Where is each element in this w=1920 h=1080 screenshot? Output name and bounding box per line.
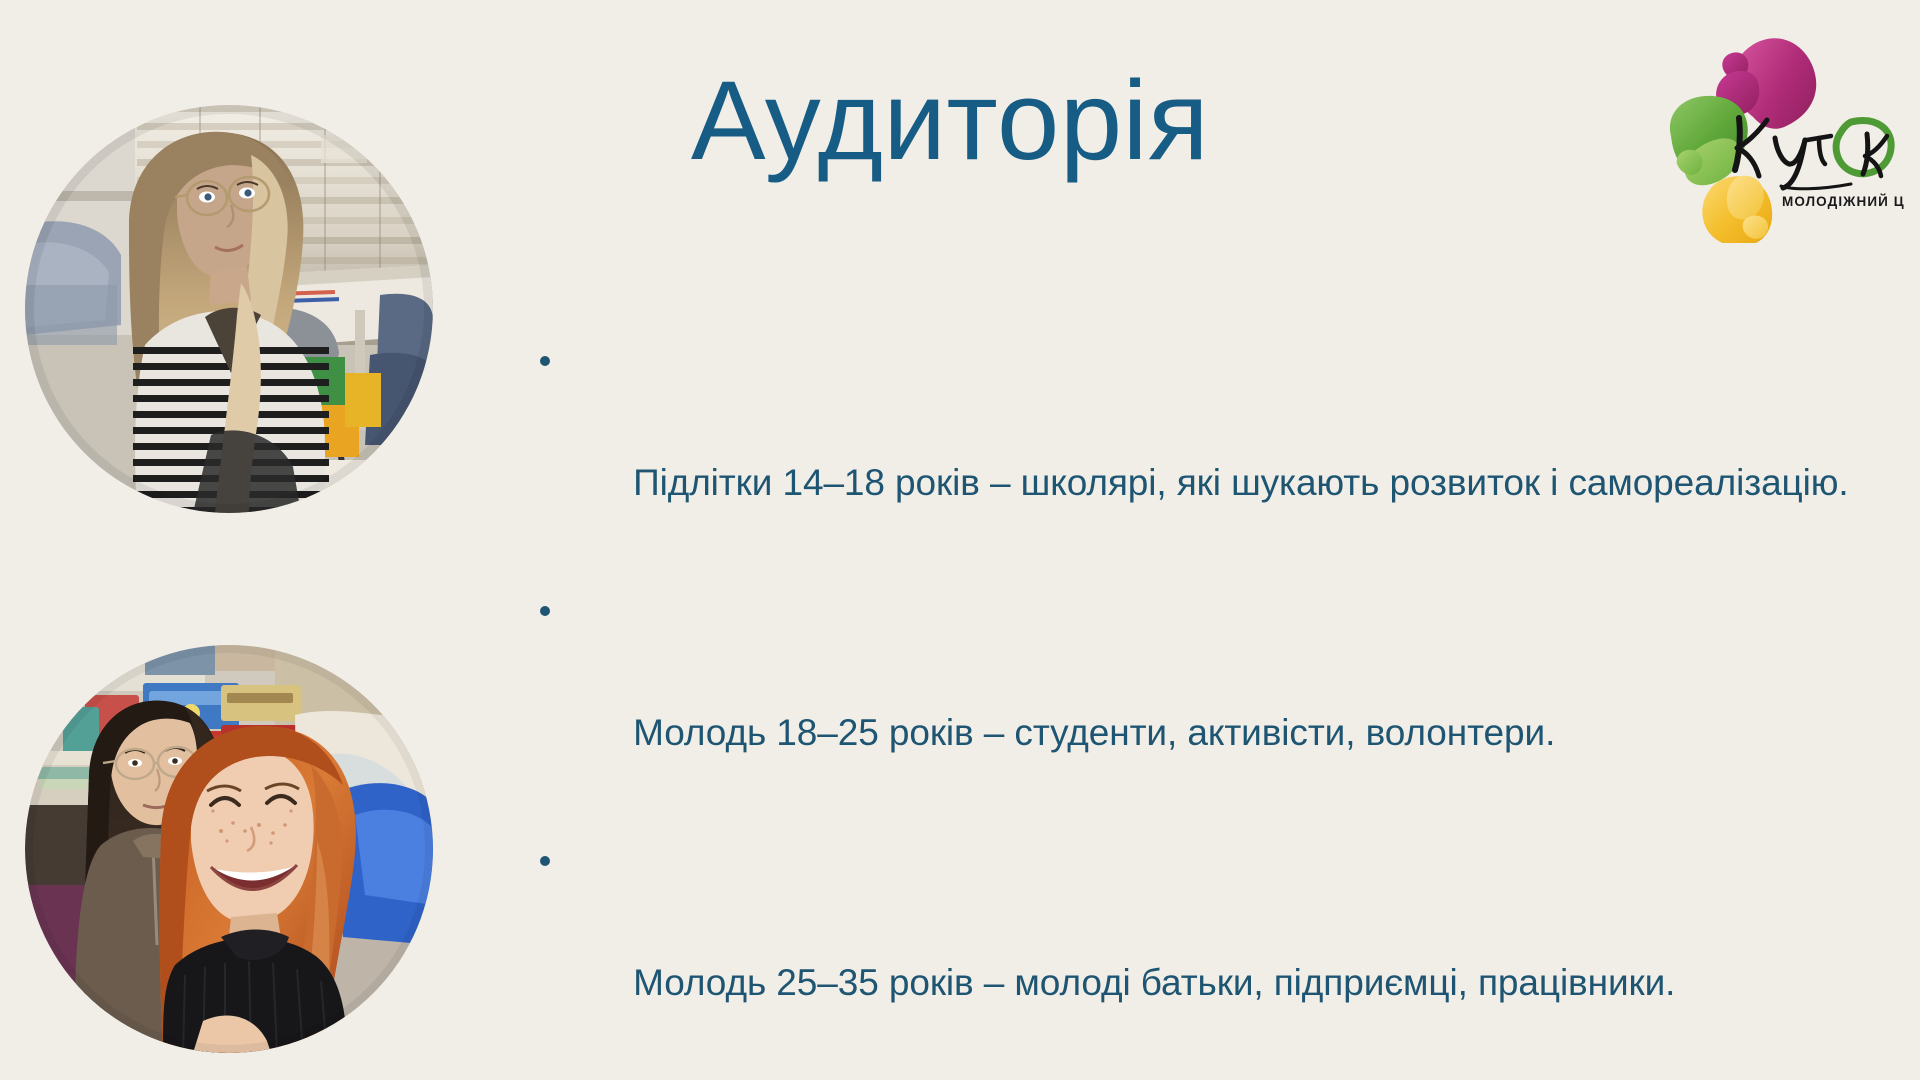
photo-two-girls-smiling: [25, 645, 433, 1053]
logo-tagline: МОЛОДІЖНИЙ ЦЕНТР: [1782, 194, 1905, 209]
logo-petal-yellow: [1702, 176, 1772, 243]
logo-wordmark: [1735, 118, 1891, 189]
list-item-text: Молодь 25–35 років – молоді батьки, підп…: [633, 962, 1675, 1003]
presentation-slide: Аудиторія: [0, 0, 1920, 1080]
photo-teen-girl-classroom-graphic: [25, 105, 433, 513]
bullet-dot-icon: [540, 356, 550, 366]
page-title: Аудиторія: [540, 62, 1360, 180]
list-item-text: Підлітки 14–18 років – школярі, які шука…: [633, 462, 1849, 503]
photo-two-girls-smiling-graphic: [25, 645, 433, 1053]
photo-teen-girl-classroom: [25, 105, 433, 513]
audience-bullet-list: Підлітки 14–18 років – школярі, які шука…: [536, 330, 1894, 1080]
kutok-logo-graphic: МОЛОДІЖНИЙ ЦЕНТР: [1655, 28, 1905, 243]
list-item-text: Молодь 18–25 років – студенти, активісти…: [633, 712, 1555, 753]
list-item: Молодь 18–25 років – студенти, активісти…: [536, 580, 1894, 824]
list-item: Підлітки 14–18 років – школярі, які шука…: [536, 330, 1894, 574]
list-item: Молодь 25–35 років – молоді батьки, підп…: [536, 830, 1894, 1074]
bullet-dot-icon: [540, 606, 550, 616]
kutok-logo: МОЛОДІЖНИЙ ЦЕНТР: [1655, 28, 1905, 243]
bullet-dot-icon: [540, 856, 550, 866]
